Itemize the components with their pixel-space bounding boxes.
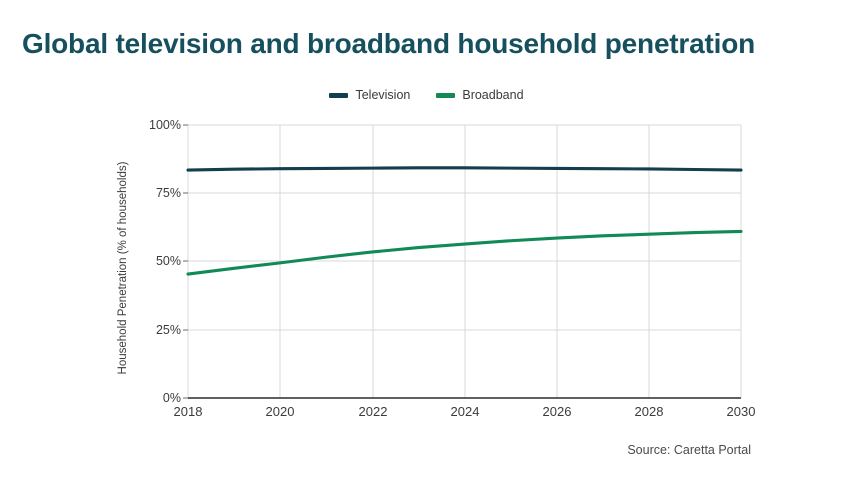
chart-page: Global television and broadband househol…	[0, 0, 853, 480]
x-tick-2026: 2026	[543, 404, 572, 419]
x-tick-2018: 2018	[174, 404, 203, 419]
plot-area: Household Penetration (% of households) …	[0, 0, 853, 480]
y-axis-title: Household Penetration (% of households)	[117, 128, 129, 408]
y-tick-25: 25%	[133, 323, 181, 337]
x-tick-2028: 2028	[635, 404, 664, 419]
source-note: Source: Caretta Portal	[627, 443, 751, 457]
y-tick-75: 75%	[133, 186, 181, 200]
y-tick-50: 50%	[133, 254, 181, 268]
x-tick-2020: 2020	[266, 404, 295, 419]
grid-lines	[188, 125, 741, 398]
y-tick-100: 100%	[133, 118, 181, 132]
x-tick-2022: 2022	[359, 404, 388, 419]
y-tick-0: 0%	[133, 391, 181, 405]
x-tick-2024: 2024	[451, 404, 480, 419]
x-tick-2030: 2030	[727, 404, 756, 419]
y-tick-marks	[183, 125, 188, 398]
